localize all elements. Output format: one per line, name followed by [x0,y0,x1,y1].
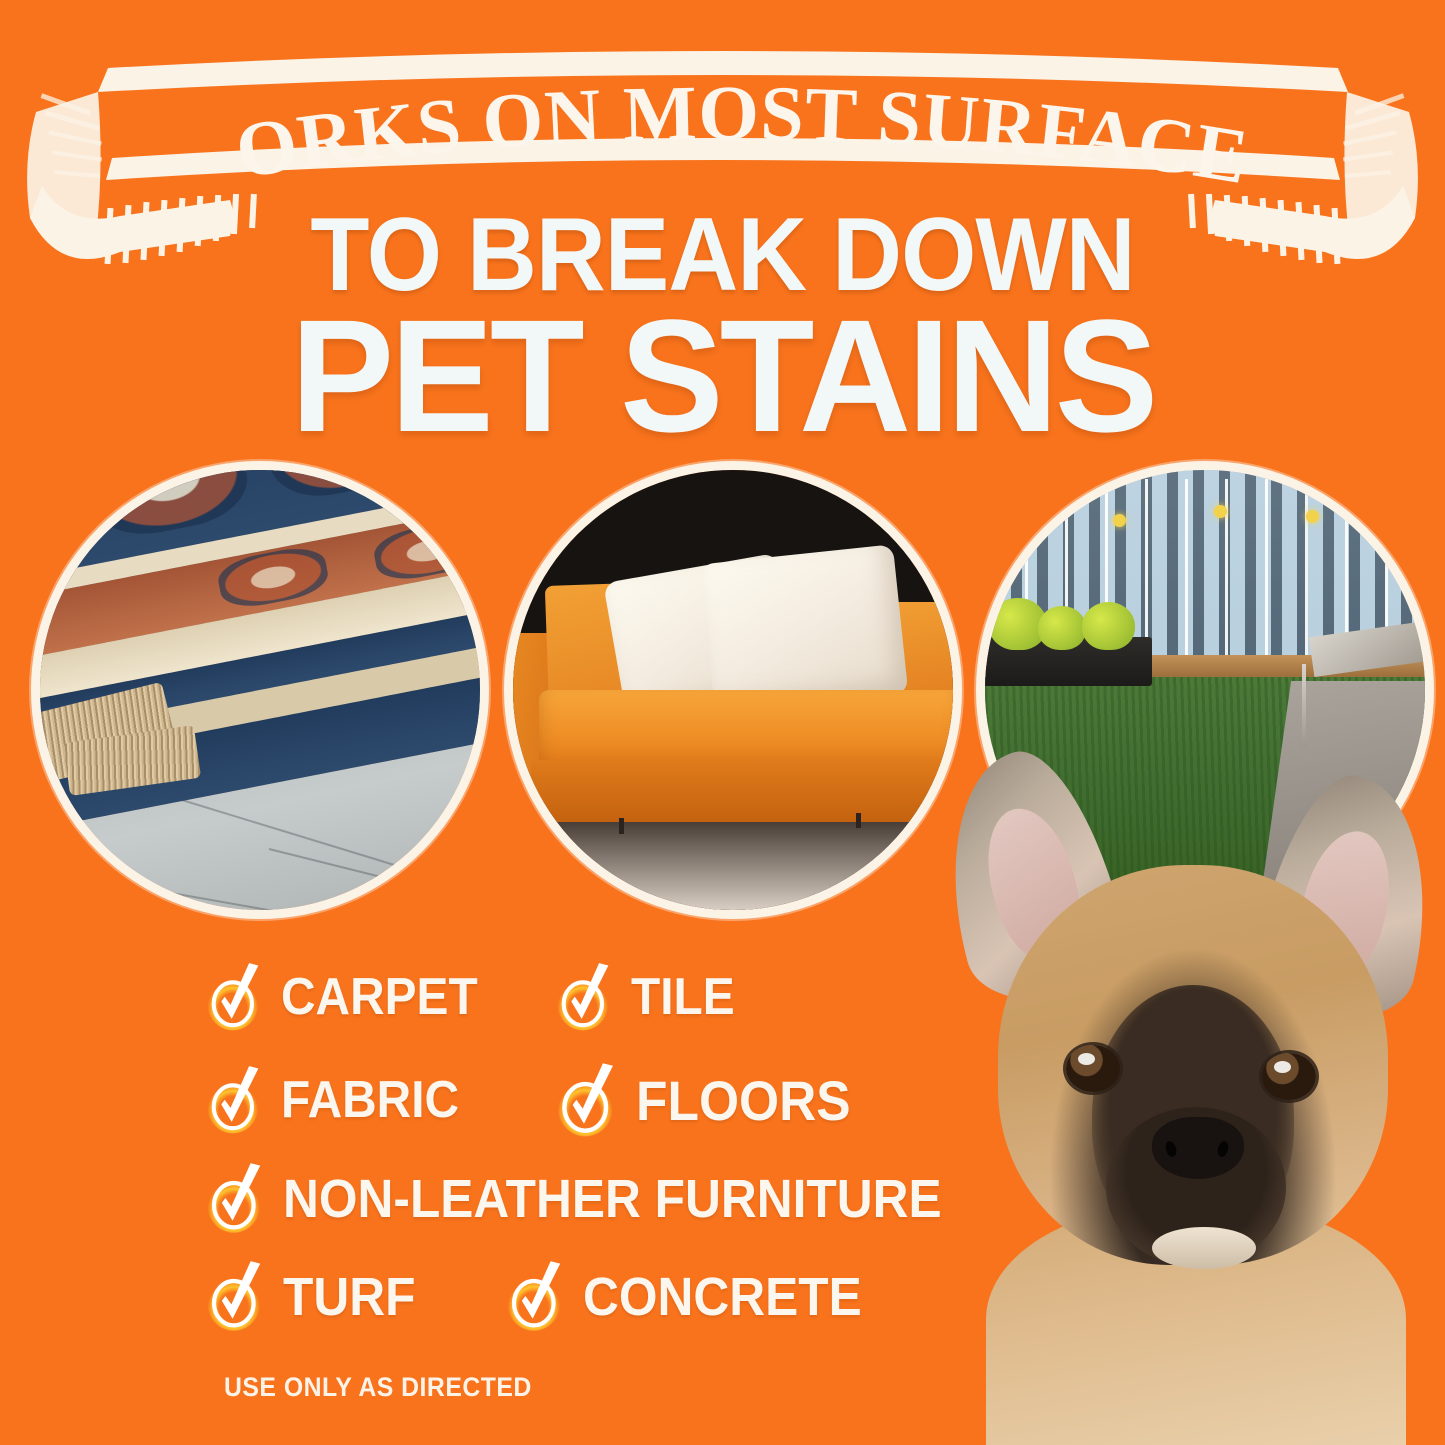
checklist-item-label: TILE [631,967,735,1027]
checklist-item-non-leather-furniture: NON-LEATHER FURNITURE [205,1162,1065,1235]
checklist-row: TURF CONCRETE [205,1260,925,1333]
carpet-rug-photo [40,470,480,910]
check-icon [555,1062,618,1139]
check-icon-svg [205,1162,265,1235]
dog-nose [1152,1117,1244,1179]
checklist-item-label: NON-LEATHER FURNITURE [283,1168,942,1230]
checklist-item-concrete: CONCRETE [505,1260,925,1333]
check-icon-svg [205,962,263,1033]
checklist-row: FABRIC FLOORS [205,1062,855,1139]
check-icon-svg [205,1260,265,1333]
checklist-item-fabric: FABRIC [205,1065,555,1136]
check-icon [555,962,613,1033]
check-icon [505,1260,565,1333]
dog-eye-right [1262,1053,1316,1100]
checklist-item-carpet: CARPET [205,962,555,1033]
sofa-photo [513,470,953,910]
checklist-item-floors: FLOORS [555,1062,855,1139]
checklist-item-label: CONCRETE [583,1266,862,1328]
dog-eye-left [1066,1045,1120,1092]
check-icon [205,1065,263,1136]
dog-photo [940,735,1445,1445]
check-icon [205,1260,265,1333]
check-icon [205,962,263,1033]
headline-line-2: PET STAINS [22,296,1424,456]
checklist-item-label: FLOORS [636,1068,851,1133]
check-icon-svg [205,1065,263,1136]
checklist-item-turf: TURF [205,1260,505,1333]
advertisement-canvas: WORKS ON MOST SURFACES TO BREAK DOWN PET… [0,0,1445,1445]
checklist-item-label: FABRIC [281,1070,459,1130]
checklist-row: NON-LEATHER FURNITURE [205,1162,1065,1235]
check-icon-svg [555,962,613,1033]
disclaimer-text: USE ONLY AS DIRECTED [224,1372,532,1403]
checklist-item-label: TURF [283,1266,415,1328]
dog-chin [1152,1227,1256,1269]
check-icon-svg [555,1062,618,1139]
check-icon-svg [505,1260,565,1333]
checklist-row: CARPET TILE [205,962,855,1033]
checklist-item-tile: TILE [555,962,855,1033]
check-icon [205,1162,265,1235]
checklist-item-label: CARPET [281,967,478,1027]
